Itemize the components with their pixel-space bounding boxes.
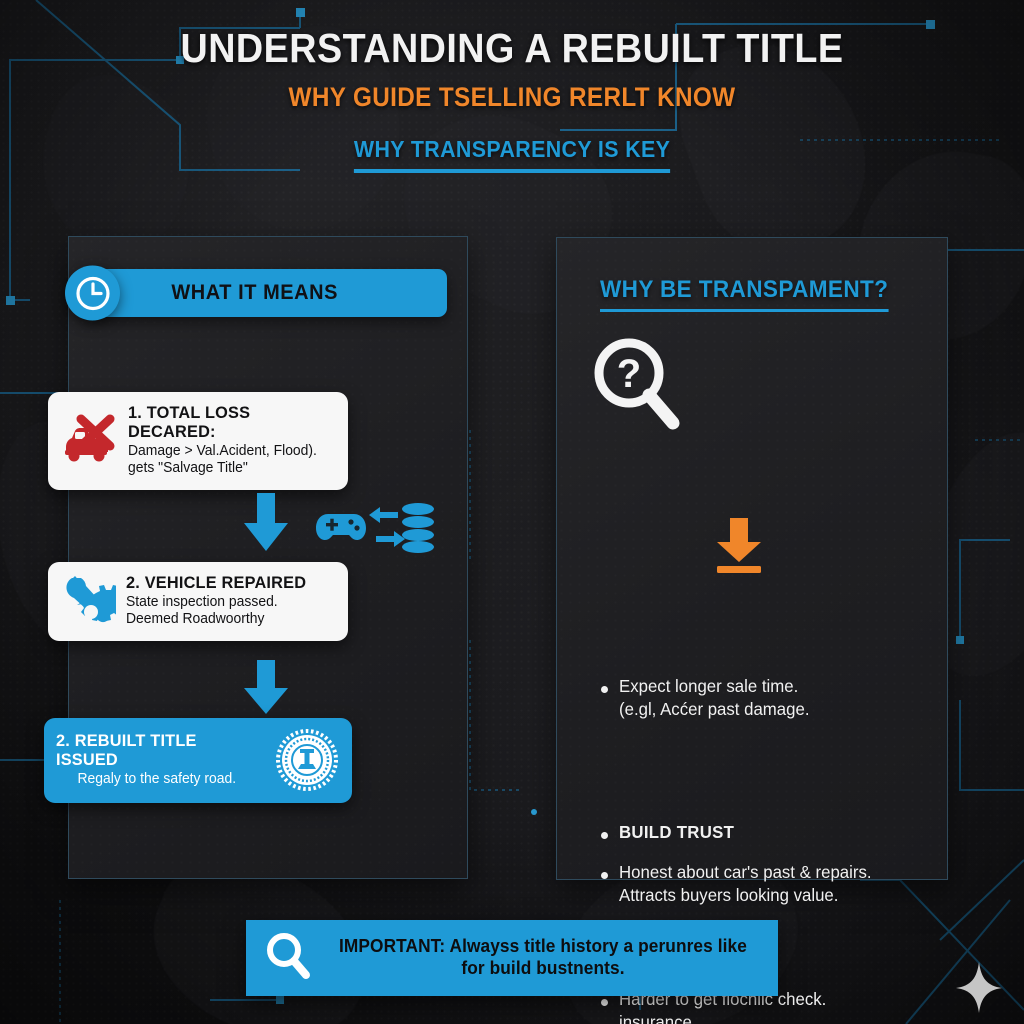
gamepad-icon	[316, 514, 366, 540]
important-banner: IMPORTANT: Alwayss title history a perun…	[246, 920, 778, 996]
step-card-1: 1. TOTAL LOSS DECARED: Damage > Val.Acid…	[48, 392, 348, 490]
infographic-poster: UNDERSTANDING A REBUILT TITLE WHY GUIDE …	[0, 0, 1024, 1024]
step-card-1-body: 1. TOTAL LOSS DECARED: Damage > Val.Acid…	[128, 403, 334, 478]
step-card-2-title: 2. VEHICLE REPAIRED	[126, 573, 326, 592]
magnifier-question-icon: ?	[587, 333, 683, 436]
flow-arrow-2	[238, 660, 294, 723]
car-crash-icon	[60, 414, 118, 466]
step-card-3-desc: Regaly to the safety road.	[56, 771, 258, 788]
magnifier-icon	[264, 931, 312, 986]
official-seal-icon	[276, 729, 338, 791]
flow-arrow-1	[238, 493, 294, 560]
poster-header: UNDERSTANDING A REBUILT TITLE WHY GUIDE …	[0, 26, 1024, 173]
step-card-2: 2. VEHICLE REPAIRED State inspection pas…	[48, 562, 348, 641]
bullet-dot	[601, 832, 608, 839]
down-arrow-icon	[238, 493, 294, 555]
right-bullet-1-text: Expect longer sale time. (e.gl, Acćer pa…	[619, 675, 810, 722]
step-card-1-title: 1. TOTAL LOSS DECARED:	[128, 403, 326, 441]
clock-icon-badge	[65, 266, 120, 321]
step-card-3-title: 2. REBUILT TITLE ISSUED	[56, 731, 258, 769]
step-card-2-body: 2. VEHICLE REPAIRED State inspection pas…	[126, 573, 334, 629]
step-card-3: 2. REBUILT TITLE ISSUED Regaly to the sa…	[44, 718, 352, 803]
arrow-left-icon	[369, 507, 398, 523]
left-panel-title: WHAT IT MEANS	[171, 281, 338, 305]
bullet-dot	[601, 999, 608, 1006]
orange-down-arrow-icon	[708, 518, 770, 581]
left-panel-header: WHAT IT MEANS	[83, 269, 447, 317]
four-point-star-icon	[955, 962, 1003, 1019]
right-bullet-3: Honest about car's past & repairs. Attra…	[601, 861, 931, 908]
wrench-gear-icon	[60, 574, 116, 628]
right-bullet-2: BUILD TRUST	[601, 821, 931, 844]
page-tagline: WHY TRANSPARENCY IS KEY	[354, 136, 670, 173]
arrow-right-icon	[376, 531, 405, 547]
page-title: UNDERSTANDING A REBUILT TITLE	[41, 26, 983, 70]
step-card-2-desc: State inspection passed. Deemed Roadwoor…	[126, 594, 326, 629]
page-subtitle: WHY GUIDE TSELLING RERLT KNOW	[51, 82, 973, 113]
right-bullet-1: Expect longer sale time. (e.gl, Acćer pa…	[601, 675, 931, 722]
down-arrow-icon	[238, 660, 294, 718]
important-banner-text: IMPORTANT: Alwayss title history a perun…	[335, 936, 752, 980]
step-card-1-desc: Damage > Val.Acident, Flood). gets "Salv…	[128, 443, 326, 478]
step-card-3-body: 2. REBUILT TITLE ISSUED Regaly to the sa…	[56, 731, 266, 788]
coin-stack-icon	[402, 503, 434, 553]
bullet-dot	[601, 686, 608, 693]
right-bullet-2-text: BUILD TRUST	[619, 821, 734, 844]
clock-icon	[74, 274, 112, 312]
right-bullet-3-text: Honest about car's past & repairs. Attra…	[619, 861, 872, 908]
right-panel-title: WHY BE TRANSPAMENT?	[600, 276, 888, 312]
bullet-dot	[601, 872, 608, 879]
side-icon-group	[316, 500, 434, 561]
svg-text:?: ?	[617, 352, 641, 396]
